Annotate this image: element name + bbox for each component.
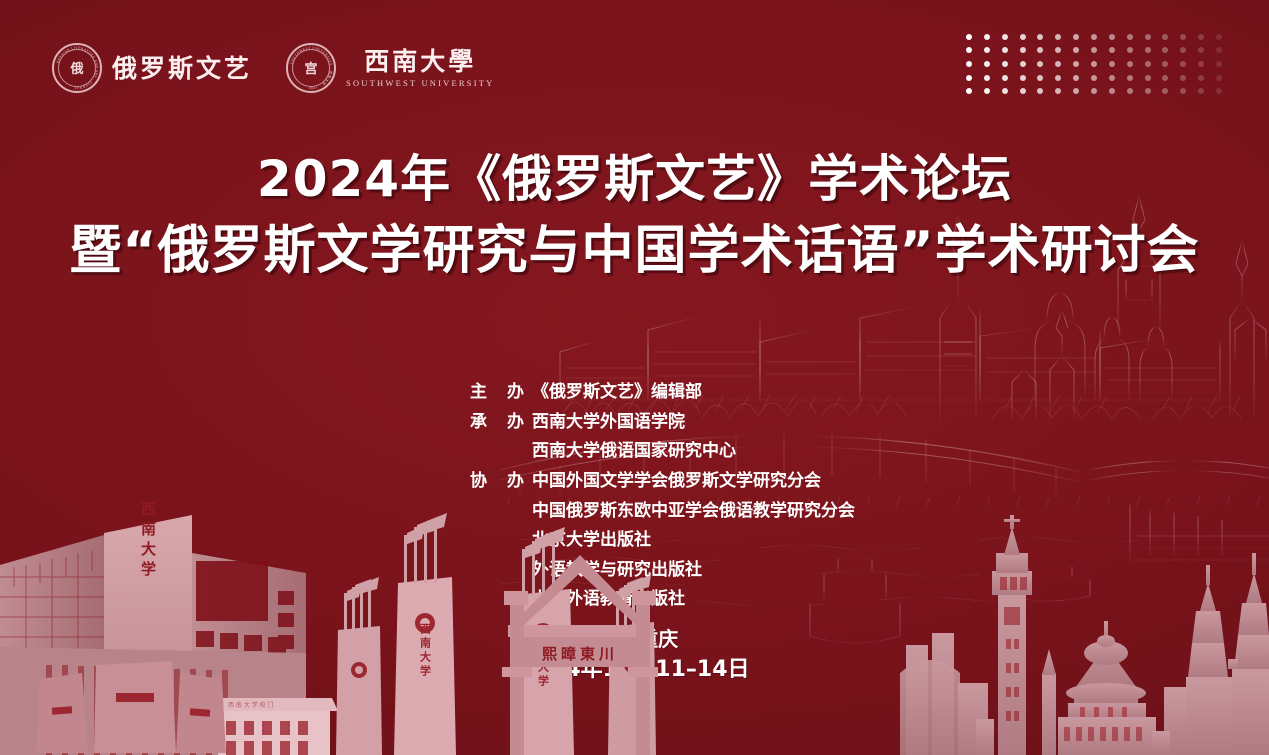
campus-hall-building: 西 南 大 学 校 门: [209, 698, 338, 755]
grid-dot: [984, 34, 990, 40]
grid-dot: [1020, 47, 1026, 53]
grid-dot: [1037, 47, 1043, 53]
grid-dot: [1055, 47, 1061, 53]
event-date: 2024年10月11–14日: [0, 655, 1269, 685]
organizer-value: 西南大学外国语学院: [524, 410, 685, 435]
grid-dot: [1020, 34, 1026, 40]
event-footer: 中国·重庆 2024年10月11–14日: [0, 626, 1269, 685]
organizer-row: 西南大学俄语国家研究中心: [470, 439, 855, 464]
grid-dot: [966, 61, 972, 67]
grid-dot: [1055, 88, 1061, 94]
organizer-value: 北京大学出版社: [524, 528, 651, 553]
grid-dot: [1198, 75, 1204, 81]
organizer-row: 上海外语教育出版社: [470, 587, 855, 612]
svg-text:SOUTHWEST UNIVERSITY · 西南大学 ·: SOUTHWEST UNIVERSITY · 西南大学 · 1906: [289, 46, 333, 90]
grid-dot: [1073, 47, 1079, 53]
grid-dot: [984, 47, 990, 53]
organizer-label: 主办: [470, 380, 524, 405]
grid-dot: [1145, 88, 1151, 94]
grid-dot: [1162, 34, 1168, 40]
grid-dot: [1073, 75, 1079, 81]
grid-dot: [1091, 88, 1097, 94]
organizer-value: 上海外语教育出版社: [524, 587, 685, 612]
grid-dot: [1020, 61, 1026, 67]
grid-dot: [1037, 61, 1043, 67]
grid-dot: [1127, 88, 1133, 94]
grid-dot: [1037, 88, 1043, 94]
grid-dot: [1109, 88, 1115, 94]
grid-dot: [1055, 61, 1061, 67]
logo-bar: 俄 RUSSIAN LITERATURE AND ART · JOURNAL 俄…: [52, 38, 494, 98]
grid-dot: [1180, 75, 1186, 81]
organizer-label: 协办: [470, 469, 524, 494]
organizer-row: 主办《俄罗斯文艺》编辑部: [470, 380, 855, 405]
grid-dot: [966, 88, 972, 94]
grid-dot: [1180, 61, 1186, 67]
organizer-row: 外语教学与研究出版社: [470, 558, 855, 583]
grid-dot: [1002, 75, 1008, 81]
organizer-row: 北京大学出版社: [470, 528, 855, 553]
grid-dot: [1127, 75, 1133, 81]
grid-dot: [1109, 61, 1115, 67]
university-seal-icon: 宫 SOUTHWEST UNIVERSITY · 西南大学 · 1906: [286, 43, 336, 93]
organizer-row: 中国俄罗斯东欧中亚学会俄语教学研究分会: [470, 499, 855, 524]
grid-dot: [1037, 34, 1043, 40]
grid-dot: [1180, 88, 1186, 94]
grid-dot: [1198, 47, 1204, 53]
grid-dot: [1073, 88, 1079, 94]
russian-literature-art-logo: 俄 RUSSIAN LITERATURE AND ART · JOURNAL 俄…: [52, 43, 252, 93]
organizer-value: 中国俄罗斯东欧中亚学会俄语教学研究分会: [524, 499, 855, 524]
grid-dot: [1073, 34, 1079, 40]
organizer-label: 承办: [470, 410, 524, 435]
grid-dot: [1216, 75, 1222, 81]
grid-dot: [1109, 47, 1115, 53]
grid-dot: [1002, 61, 1008, 67]
title-line-1: 2024年《俄罗斯文艺》学术论坛: [0, 150, 1269, 209]
grid-dot: [1109, 34, 1115, 40]
university-name-en: SOUTHWEST UNIVERSITY: [346, 78, 494, 88]
grid-dot: [1198, 34, 1204, 40]
grid-dot: [1162, 61, 1168, 67]
organizer-list: 主办《俄罗斯文艺》编辑部承办西南大学外国语学院西南大学俄语国家研究中心协办中国外…: [470, 380, 855, 617]
grid-dot: [984, 61, 990, 67]
grid-dot: [1145, 34, 1151, 40]
organizer-value: 外语教学与研究出版社: [524, 558, 702, 583]
grid-dot: [1127, 61, 1133, 67]
grid-dot: [1091, 75, 1097, 81]
grid-dot: [1145, 75, 1151, 81]
grid-dot: [1020, 88, 1026, 94]
grid-dot: [1020, 75, 1026, 81]
dot-grid-decoration: [960, 30, 1228, 98]
grid-dot: [1091, 34, 1097, 40]
grid-dot: [1216, 34, 1222, 40]
grid-dot: [1162, 75, 1168, 81]
title-line-2: 暨“俄罗斯文学研究与中国学术话语”学术研讨会: [0, 221, 1269, 282]
organizer-value: 《俄罗斯文艺》编辑部: [524, 380, 702, 405]
grid-dot: [1091, 61, 1097, 67]
organizer-row: 协办中国外国文学学会俄罗斯文学研究分会: [470, 469, 855, 494]
grid-dot: [1198, 88, 1204, 94]
poster-canvas: 俄 RUSSIAN LITERATURE AND ART · JOURNAL 俄…: [0, 0, 1269, 755]
grid-dot: [1162, 88, 1168, 94]
grid-dot: [1180, 34, 1186, 40]
grid-dot: [1145, 47, 1151, 53]
grid-dot: [966, 47, 972, 53]
grid-dot: [966, 34, 972, 40]
grid-dot: [1055, 34, 1061, 40]
grid-dot: [1037, 75, 1043, 81]
grid-dot: [984, 88, 990, 94]
southwest-university-logo: 宫 SOUTHWEST UNIVERSITY · 西南大学 · 1906 西南大…: [286, 43, 494, 93]
grid-dot: [984, 75, 990, 81]
grid-dot: [1002, 47, 1008, 53]
journal-name-cn: 俄罗斯文艺: [112, 56, 252, 81]
grid-dot: [1180, 47, 1186, 53]
swu-building-vertical-label: 西南大学: [139, 501, 157, 581]
grid-dot: [1002, 88, 1008, 94]
grid-dot: [1073, 61, 1079, 67]
grid-dot: [1145, 61, 1151, 67]
grid-dot: [1216, 88, 1222, 94]
organizer-value: 中国外国文学学会俄罗斯文学研究分会: [524, 469, 821, 494]
organizer-value: 西南大学俄语国家研究中心: [524, 439, 736, 464]
organizer-row: 承办西南大学外国语学院: [470, 410, 855, 435]
grid-dot: [1216, 61, 1222, 67]
grid-dot: [1055, 75, 1061, 81]
poster-title: 2024年《俄罗斯文艺》学术论坛 暨“俄罗斯文学研究与中国学术话语”学术研讨会: [0, 150, 1269, 282]
grid-dot: [1002, 34, 1008, 40]
grid-dot: [1127, 47, 1133, 53]
university-name-cn: 西南大學: [364, 49, 476, 74]
grid-dot: [1216, 47, 1222, 53]
grid-dot: [1091, 47, 1097, 53]
grid-dot: [1109, 75, 1115, 81]
svg-text:RUSSIAN LITERATURE AND ART · J: RUSSIAN LITERATURE AND ART · JOURNAL: [56, 46, 99, 90]
hall-label: 西 南 大 学 校 门: [228, 701, 274, 709]
grid-dot: [1127, 34, 1133, 40]
grid-dot: [1162, 47, 1168, 53]
grid-dot: [966, 75, 972, 81]
event-location: 中国·重庆: [0, 626, 1269, 653]
grid-dot: [1198, 61, 1204, 67]
journal-seal-icon: 俄 RUSSIAN LITERATURE AND ART · JOURNAL: [52, 43, 102, 93]
